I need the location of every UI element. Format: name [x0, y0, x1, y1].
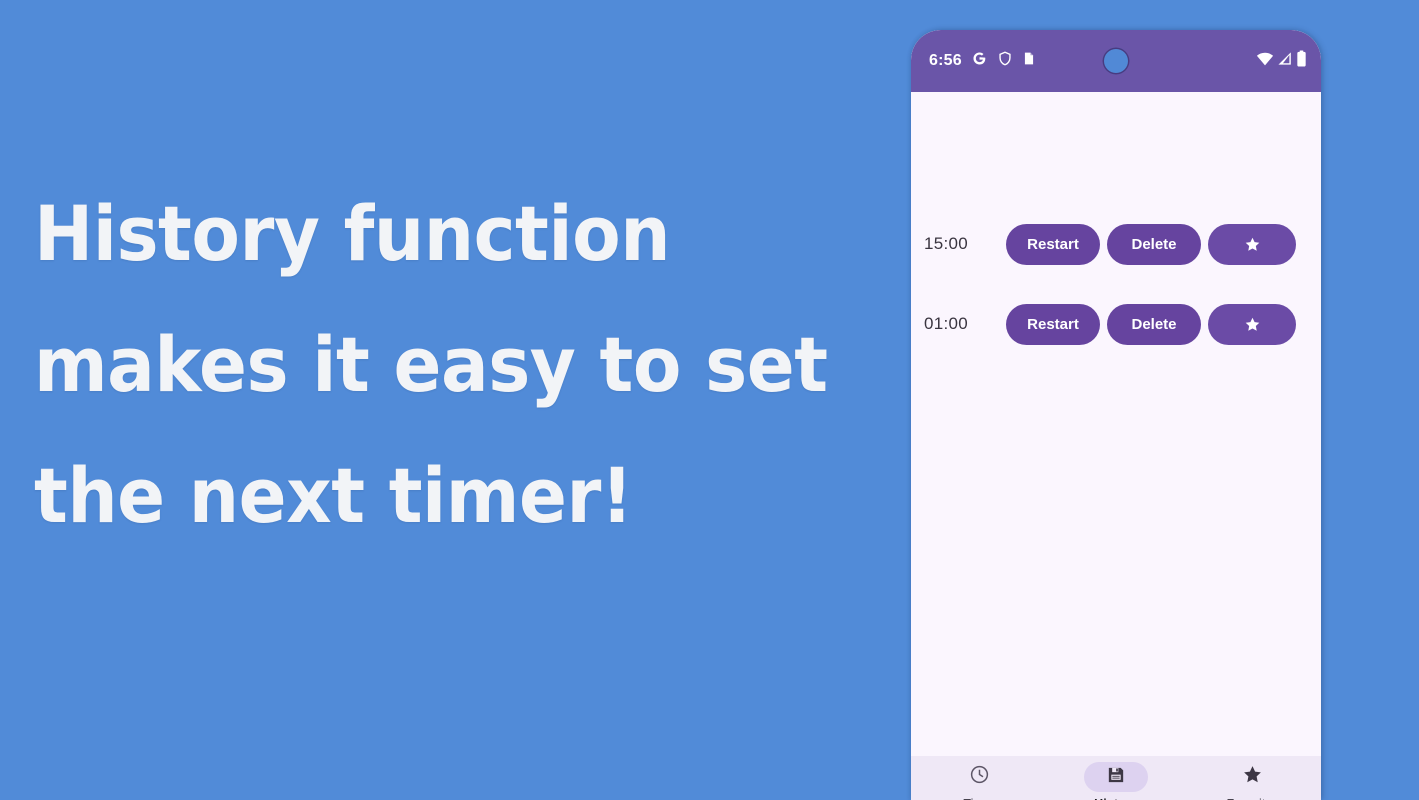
- wifi-icon: [1256, 51, 1274, 71]
- history-row-time: 01:00: [924, 314, 1006, 334]
- clock-icon: [969, 764, 990, 790]
- google-g-icon: [971, 50, 988, 72]
- sd-card-icon: [1022, 50, 1036, 72]
- promo-headline-line-1: History function: [34, 168, 825, 299]
- promo-headline: History function makes it easy to set th…: [34, 168, 884, 561]
- favorite-button[interactable]: [1208, 224, 1296, 265]
- status-bar: 6:56: [911, 30, 1321, 92]
- delete-button[interactable]: Delete: [1107, 304, 1201, 345]
- star-icon: [1244, 236, 1261, 253]
- status-bar-left-group: 6:56: [929, 50, 1036, 72]
- nav-item-favorites[interactable]: Favorites: [1184, 762, 1321, 800]
- bottom-navigation-bar: Timer History: [911, 756, 1321, 800]
- battery-icon: [1296, 50, 1307, 72]
- front-camera-punch-hole: [1103, 48, 1130, 75]
- promo-headline-line-2: makes it easy to set: [34, 299, 825, 430]
- promo-headline-line-3: the next timer!: [34, 430, 825, 561]
- restart-button[interactable]: Restart: [1006, 224, 1100, 265]
- delete-button[interactable]: Delete: [1107, 224, 1201, 265]
- favorite-button[interactable]: [1208, 304, 1296, 345]
- status-bar-right-group: [1256, 50, 1307, 72]
- table-row: 15:00 Restart Delete: [911, 222, 1321, 266]
- nav-item-timer[interactable]: Timer: [911, 762, 1048, 800]
- nav-timer-icon-wrap: [947, 762, 1011, 792]
- cellular-signal-icon: [1277, 51, 1293, 71]
- save-floppy-disk-icon: [1106, 765, 1126, 790]
- restart-button[interactable]: Restart: [1006, 304, 1100, 345]
- status-bar-clock: 6:56: [929, 52, 962, 70]
- nav-favorites-icon-wrap: [1221, 762, 1285, 792]
- shield-icon: [997, 50, 1013, 72]
- star-icon: [1244, 316, 1261, 333]
- history-row-time: 15:00: [924, 234, 1006, 254]
- nav-item-history[interactable]: History: [1048, 762, 1185, 800]
- table-row: 01:00 Restart Delete: [911, 302, 1321, 346]
- star-icon: [1242, 764, 1263, 790]
- nav-history-icon-wrap: [1084, 762, 1148, 792]
- history-screen: 15:00 Restart Delete 01:00 Restart Delet…: [911, 92, 1321, 756]
- phone-mockup: 6:56: [911, 30, 1321, 800]
